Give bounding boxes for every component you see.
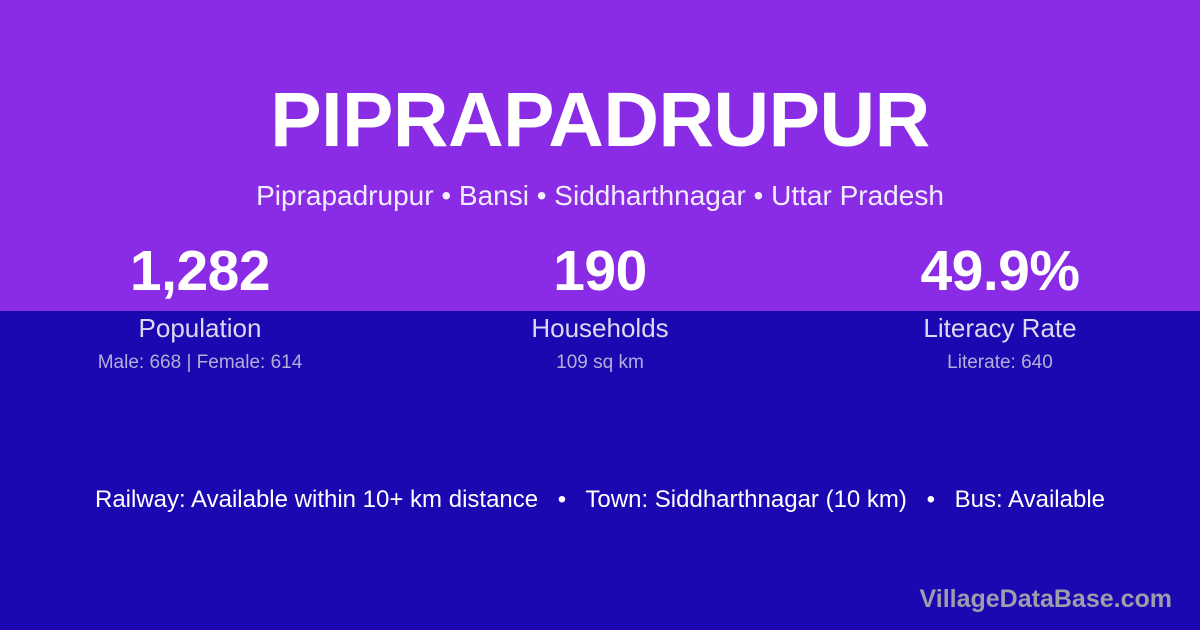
stat-households-value: 190 [400, 243, 800, 300]
stat-literacy-rate-value: 49.9% [800, 243, 1200, 300]
fact-railway: Railway: Available within 10+ km distanc… [95, 486, 538, 513]
stat-households: 190 Households 109 sq km [400, 243, 800, 373]
amenities-line: Railway: Available within 10+ km distanc… [0, 486, 1200, 515]
stat-households-sub: 109 sq km [400, 353, 800, 374]
fact-separator-1: • [545, 486, 579, 515]
stat-literacy-rate-sub: Literate: 640 [800, 353, 1200, 374]
stat-literacy-rate: 49.9% Literacy Rate Literate: 640 [800, 243, 1200, 373]
stat-population-sub: Male: 668 | Female: 614 [0, 353, 400, 374]
breadcrumb: Piprapadrupur • Bansi • Siddharthnagar •… [0, 159, 1200, 212]
fact-town: Town: Siddharthnagar (10 km) [585, 486, 907, 513]
stat-literacy-rate-label: Literacy Rate [800, 314, 1200, 343]
stat-households-label: Households [400, 314, 800, 343]
stats-row: 1,282 Population Male: 668 | Female: 614… [0, 243, 1200, 373]
page-title: PIPRAPADRUPUR [0, 0, 1200, 159]
stat-population-label: Population [0, 314, 400, 343]
stat-population: 1,282 Population Male: 668 | Female: 614 [0, 243, 400, 373]
fact-separator-2: • [914, 486, 948, 515]
card-header: PIPRAPADRUPUR Piprapadrupur • Bansi • Si… [0, 0, 1200, 212]
stat-population-value: 1,282 [0, 243, 400, 300]
fact-bus: Bus: Available [955, 486, 1105, 513]
village-info-card: PIPRAPADRUPUR Piprapadrupur • Bansi • Si… [0, 0, 1200, 630]
site-brand-watermark: VillageDataBase.com [920, 586, 1172, 614]
